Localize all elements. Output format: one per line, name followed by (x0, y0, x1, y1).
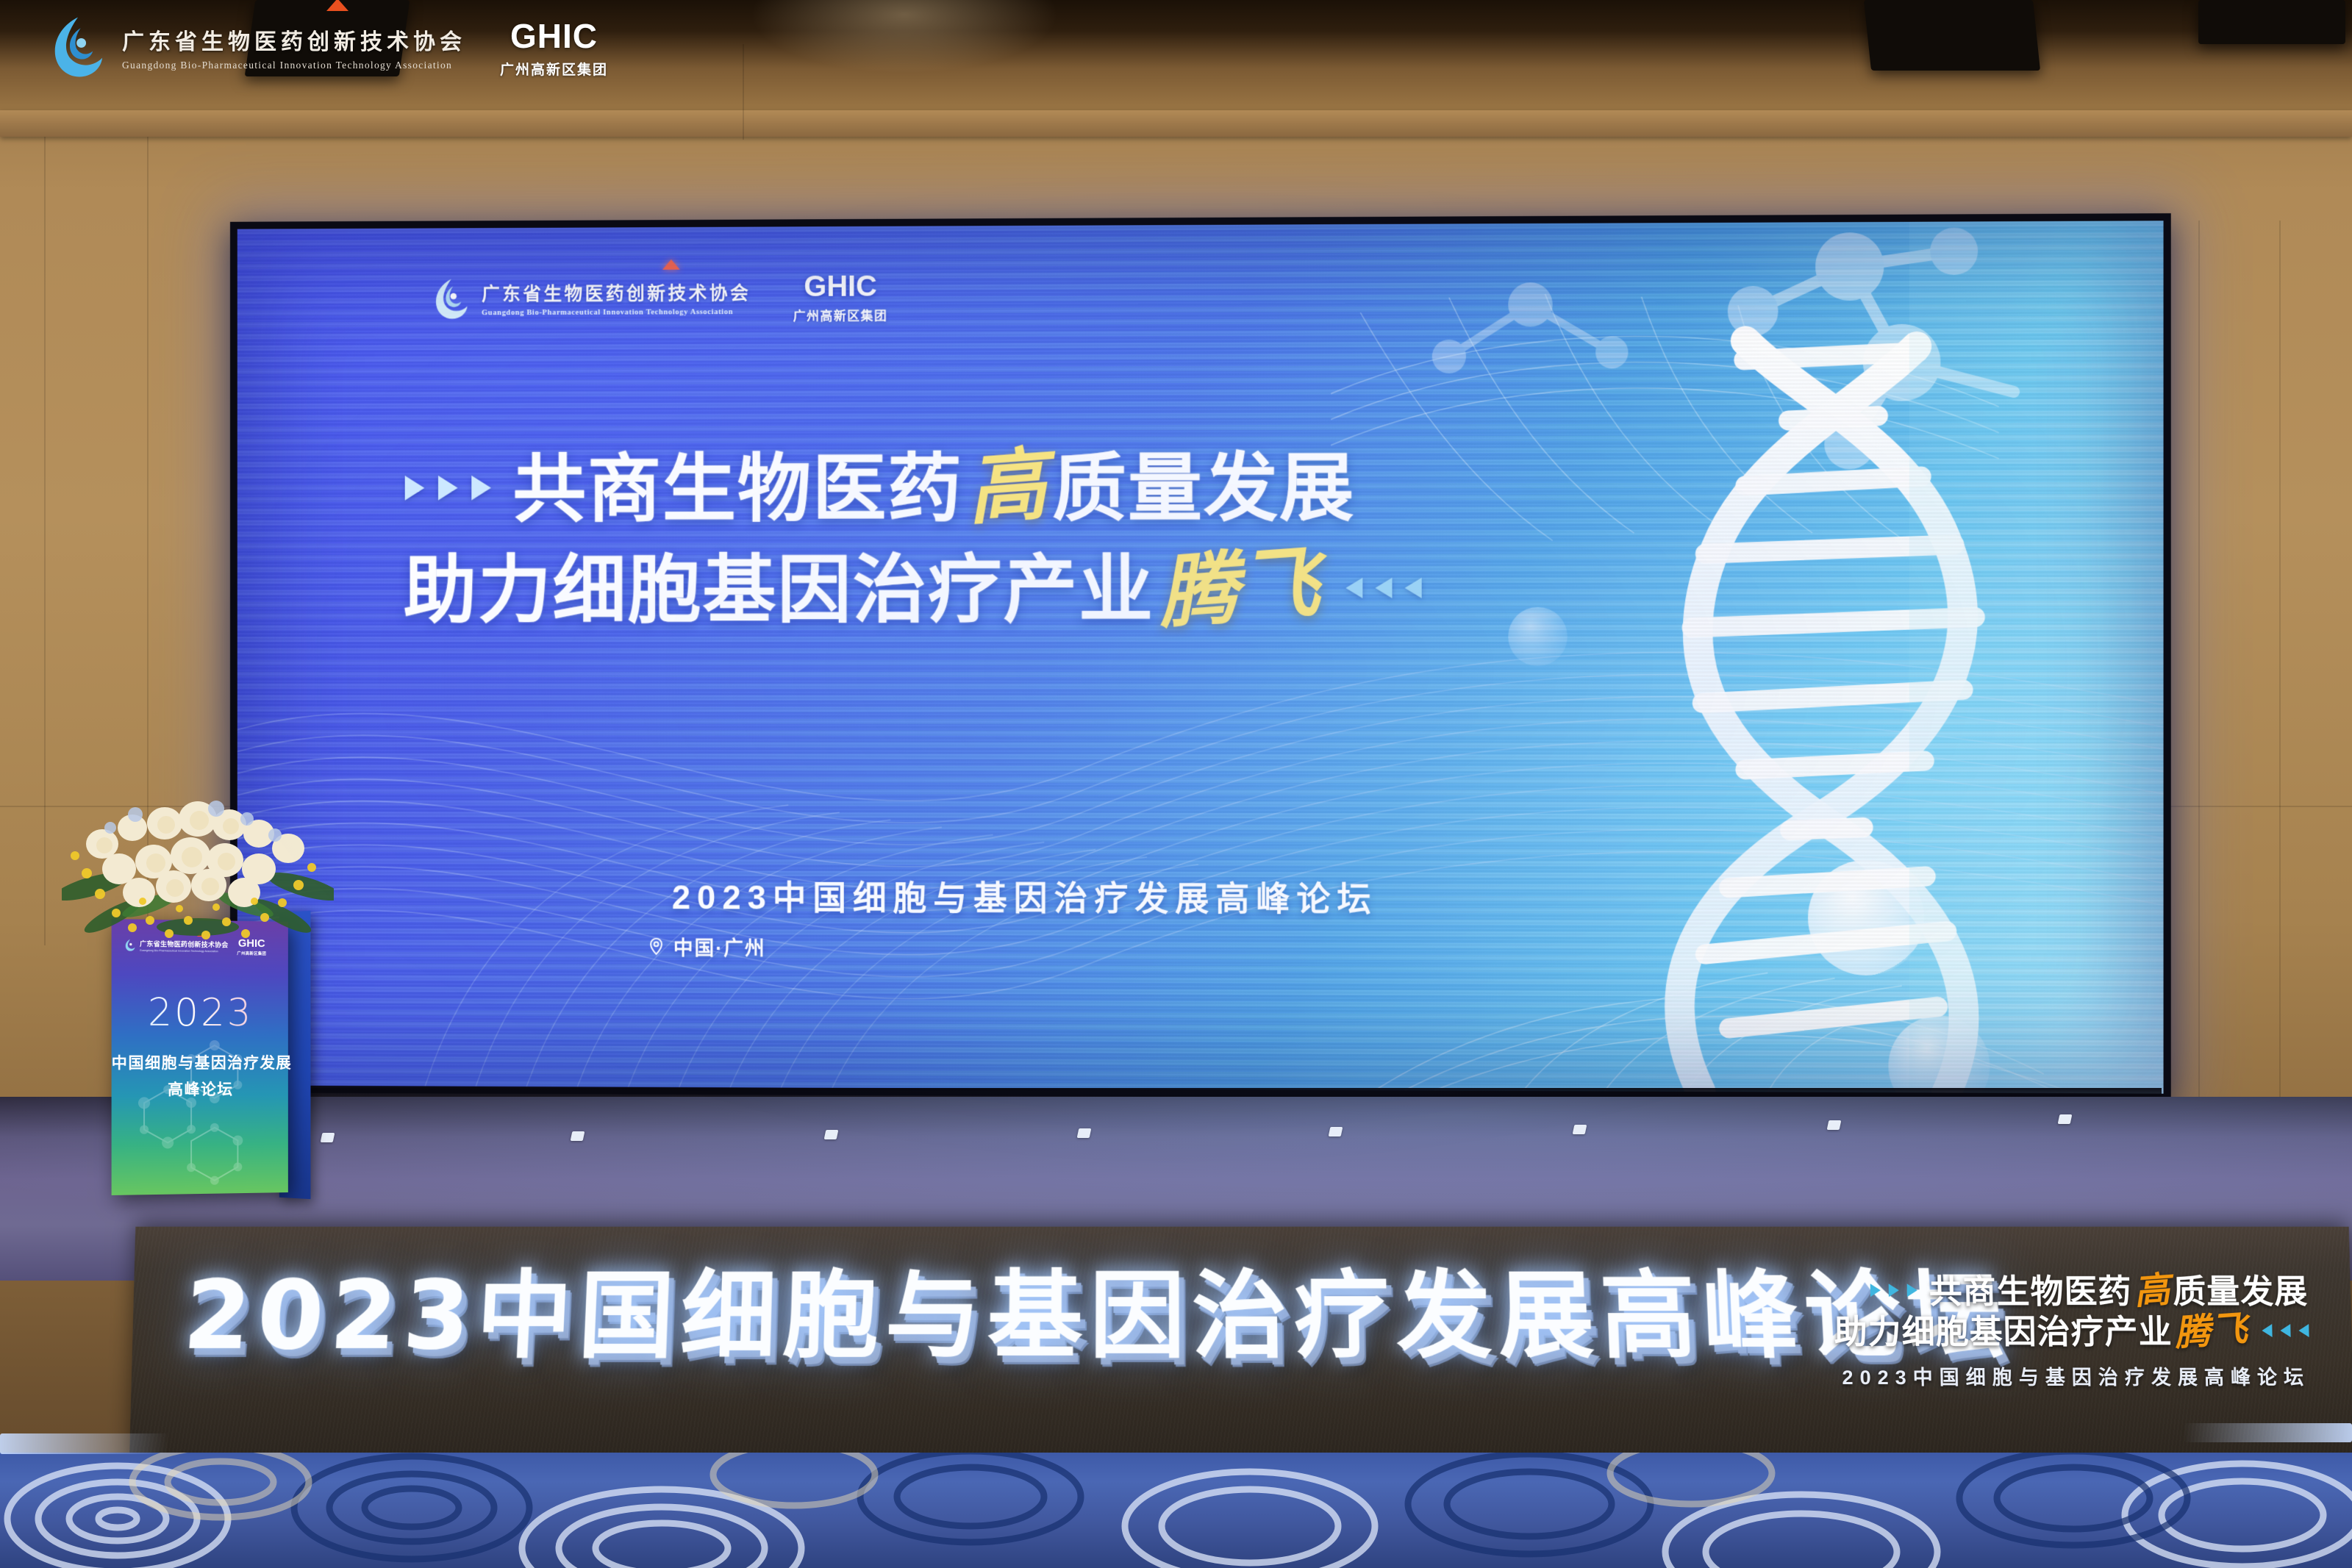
triangle-left-icon (1345, 578, 1362, 598)
glowing-sphere-icon (1888, 1015, 1990, 1093)
stage-slogan-subtitle: 2023中国细胞与基因治疗发展高峰论坛 (1834, 1361, 2310, 1390)
led-fine-scanline (237, 221, 2164, 1093)
patterned-carpet (0, 1453, 2352, 1568)
podium-association-en: Guangdong Bio-Pharmaceutical Innovation … (140, 949, 228, 953)
stage-floor-marker (1573, 1125, 1587, 1134)
headline-1-highlight: 高 (960, 443, 1055, 531)
ceiling-speaker-right (1864, 0, 2040, 71)
stage-slogan-1b: 质量发展 (2173, 1272, 2309, 1310)
screen-association-name-cn: 广东省生物医药创新技术协会 (482, 279, 751, 306)
podium-ghic-subtitle: 广州高新区集团 (237, 951, 266, 956)
triangle-right-icon (1870, 1284, 1881, 1297)
conference-hall-photo: 广东省生物医药创新技术协会 Guangdong Bio-Pharmaceutic… (0, 0, 2352, 1568)
stage-slogan-line-2: 助力细胞基因治疗产业腾飞 (1834, 1311, 2309, 1351)
wall-seam (2279, 221, 2281, 1103)
stage-slogan-arrows (1870, 1284, 1917, 1297)
ghic-wordmark: GHIC (510, 16, 598, 56)
location-pin-icon (647, 937, 665, 956)
association-name-cn: 广东省生物医药创新技术协会 (122, 24, 466, 56)
triangle-right-icon (1907, 1284, 1917, 1297)
screen-graphics (237, 221, 2164, 1093)
headline-1-part-a: 共商生物医药 (512, 445, 962, 533)
stage-floor-marker (1329, 1127, 1343, 1136)
association-name-en: Guangdong Bio-Pharmaceutical Innovation … (122, 60, 466, 71)
top-banner-logos: 广东省生物医药创新技术协会 Guangdong Bio-Pharmaceutic… (44, 13, 608, 81)
stage-floor-marker (321, 1133, 335, 1142)
screen-ghic-wordmark: GHIC (804, 271, 876, 304)
ceiling-beam-trim (0, 110, 2352, 137)
triangle-left-icon (2298, 1324, 2309, 1337)
triangle-left-icon (2262, 1324, 2272, 1337)
stage-3d-letters: 2023中国细胞与基因治疗发展高峰论坛 (179, 1239, 2013, 1376)
chevron-up-icon (662, 259, 680, 270)
screen-ghic-subtitle: 广州高新区集团 (793, 305, 888, 323)
chevron-up-icon (326, 0, 348, 11)
stage-slogan-back-arrows (2262, 1324, 2309, 1337)
led-video-wall: 广东省生物医药创新技术协会 Guangdong Bio-Pharmaceutic… (230, 213, 2171, 1101)
molecule-ball-stick-icon (1432, 282, 1629, 373)
screen-association-logo: 广东省生物医药创新技术协会 Guangdong Bio-Pharmaceutic… (429, 275, 751, 321)
association-logo-top: 广东省生物医药创新技术协会 Guangdong Bio-Pharmaceutic… (44, 13, 466, 81)
stage-floor-marker (824, 1130, 839, 1139)
headline-1-part-b: 质量发展 (1052, 445, 1355, 532)
stage-slogan-2-highlight: 腾飞 (2170, 1308, 2252, 1353)
ghic-subtitle: 广州高新区集团 (500, 59, 608, 79)
swirl-ripple-pattern-icon (0, 1453, 2352, 1568)
screen-location: 中国·广州 (647, 932, 765, 961)
screen-location-text: 中国·广州 (673, 932, 766, 961)
headline-line-1: 共商生物医药高质量发展 (405, 444, 1948, 529)
swirl-leaf-logo-icon (429, 276, 473, 321)
screen-logo-row: 广东省生物医药创新技术协会 Guangdong Bio-Pharmaceutic… (429, 271, 887, 326)
stage-floor-marker (571, 1131, 585, 1141)
triangle-right-icon (1889, 1284, 1899, 1297)
stage-slogan-1a: 共商生物医药 (1929, 1272, 2132, 1310)
wall-seam (743, 44, 744, 140)
glowing-sphere-icon (1808, 860, 1924, 975)
triangle-right-icon (405, 476, 425, 501)
screen-headline: 共商生物医药高质量发展 助力细胞基因治疗产业腾飞 (405, 444, 1948, 630)
stage-slogan-1-highlight: 高 (2130, 1269, 2175, 1311)
podium-title-line-2: 高峰论坛 (112, 1078, 288, 1100)
ghic-logo-top: GHIC 广州高新区集团 (500, 16, 608, 79)
stage-front-panel: 2023中国细胞与基因治疗发展高峰论坛 共商生物医药高质量发展 助力细胞基因治疗… (129, 1227, 2352, 1469)
ceiling-speaker-far-right (2198, 0, 2345, 44)
triangle-left-icon (1375, 578, 1392, 598)
screen-association-name-en: Guangdong Bio-Pharmaceutical Innovation … (482, 308, 751, 317)
triangle-left-icon (2280, 1324, 2290, 1337)
headline-arrows (405, 476, 491, 501)
led-scanline-moire (237, 221, 2164, 1093)
triangle-right-icon (438, 476, 458, 501)
stage-floor-marker (1077, 1128, 1092, 1138)
molecule-ball-stick-icon (1728, 227, 2014, 469)
wall-seam (2198, 221, 2200, 1103)
triangle-left-icon (1405, 578, 1422, 598)
led-screen-content: 广东省生物医药创新技术协会 Guangdong Bio-Pharmaceutic… (237, 221, 2164, 1093)
swirl-leaf-logo-icon (44, 13, 112, 81)
stage-floor-marker (2058, 1114, 2073, 1124)
stage-slogan-line-1: 共商生物医药高质量发展 (1833, 1270, 2308, 1311)
wall-seam (44, 137, 46, 945)
screen-ghic-logo: GHIC 广州高新区集团 (793, 271, 888, 324)
headline-2-part-a: 助力细胞基因治疗产业 (404, 546, 1154, 633)
screen-subheadline: 2023中国细胞与基因治疗发展高峰论坛 (672, 870, 1378, 920)
podium-sign: 广东省生物医药创新技术协会 Guangdong Bio-Pharmaceutic… (112, 919, 288, 1195)
stage-slogan: 共商生物医药高质量发展 助力细胞基因治疗产业腾飞 2023中国细胞与基因治疗发展… (1833, 1270, 2310, 1389)
podium-year: 2023 (112, 990, 288, 1035)
stage-floor-marker (1827, 1120, 1842, 1130)
led-vignette (237, 221, 2164, 1093)
flower-arrangement-icon (62, 776, 334, 949)
headline-line-2: 助力细胞基因治疗产业腾飞 (404, 546, 1948, 630)
triangle-right-icon (471, 476, 491, 501)
stage-slogan-2a: 助力细胞基因治疗产业 (1834, 1313, 2173, 1350)
headline-2-highlight: 腾飞 (1151, 541, 1327, 635)
podium-title-line-1: 中国细胞与基因治疗发展 (112, 1051, 288, 1073)
wave-mesh-icon (237, 652, 2164, 1003)
headline-back-arrows (1345, 578, 1421, 598)
